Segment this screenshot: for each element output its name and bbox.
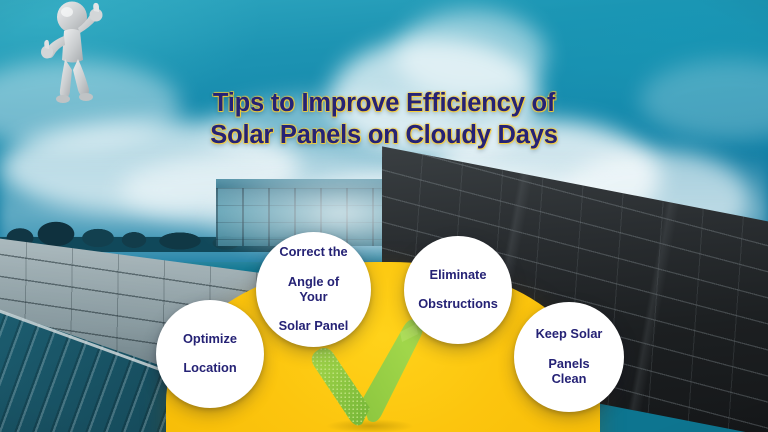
bubble-line-1: Keep Solar [523,327,615,342]
tip-bubble-correct-angle[interactable]: Correct the Angle of Your Solar Panel [256,232,371,347]
mascot-svg [34,0,112,110]
bubble-text: Correct the Angle of Your Solar Panel [256,245,371,334]
infographic-canvas: Tips to Improve Efficiency of Solar Pane… [0,0,768,432]
title-line-2: Solar Panels on Cloudy Days [0,120,768,152]
bubble-text: Eliminate Obstructions [400,268,516,313]
bubble-line-1: Optimize [174,332,246,347]
thumbs-up-3d-figure-icon [34,0,112,110]
bubble-line-2: Location [174,361,246,376]
page-title: Tips to Improve Efficiency of Solar Pane… [0,88,768,151]
tip-bubble-eliminate-obstructions[interactable]: Eliminate Obstructions [404,236,512,344]
title-line-1: Tips to Improve Efficiency of [213,89,555,117]
bubble-line-1: Eliminate [409,268,507,283]
bubble-line-1: Correct the [265,245,362,260]
tip-bubble-optimize-location[interactable]: Optimize Location [156,300,264,408]
tip-bubble-keep-panels-clean[interactable]: Keep Solar Panels Clean [514,302,624,412]
bubble-text: Keep Solar Panels Clean [514,327,624,386]
bubble-line-2: Angle of Your [265,275,362,305]
bubble-line-3: Solar Panel [265,319,362,334]
bubble-line-2: Panels Clean [523,357,615,387]
bubble-line-2: Obstructions [409,297,507,312]
bubble-text: Optimize Location [165,332,255,377]
